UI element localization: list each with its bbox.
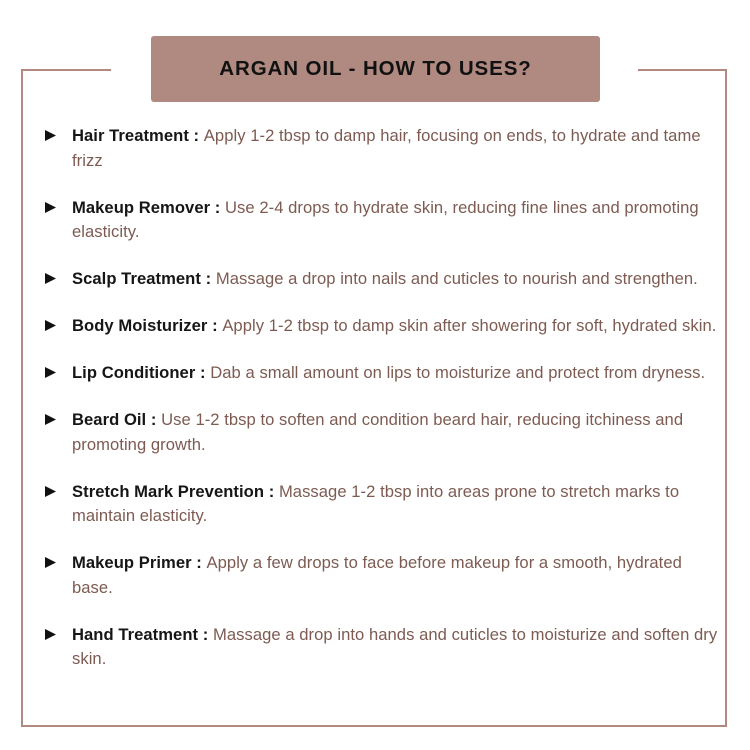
list-item-description: Massage a drop into nails and cuticles t… <box>216 269 698 288</box>
list-item-text: Makeup Remover : Use 2-4 drops to hydrat… <box>72 196 719 245</box>
triangle-right-icon <box>44 319 58 332</box>
triangle-right-icon <box>44 413 58 426</box>
list-item: Scalp Treatment : Massage a drop into na… <box>44 267 719 292</box>
list-item-text: Scalp Treatment : Massage a drop into na… <box>72 267 719 292</box>
triangle-right-icon <box>44 366 58 379</box>
list-item: Makeup Remover : Use 2-4 drops to hydrat… <box>44 196 719 245</box>
list-item-text: Stretch Mark Prevention : Massage 1-2 tb… <box>72 480 719 529</box>
list-item-description: Use 1-2 tbsp to soften and condition bea… <box>72 410 683 454</box>
usage-list: Hair Treatment : Apply 1-2 tbsp to damp … <box>44 124 719 694</box>
list-item: Lip Conditioner : Dab a small amount on … <box>44 361 719 386</box>
triangle-right-icon <box>44 272 58 285</box>
list-item-text: Makeup Primer : Apply a few drops to fac… <box>72 551 719 600</box>
frame-top-left-segment <box>21 69 111 71</box>
list-item-label: Hair Treatment : <box>72 126 204 145</box>
list-item-description: Apply 1-2 tbsp to damp skin after shower… <box>222 316 716 335</box>
list-item: Hair Treatment : Apply 1-2 tbsp to damp … <box>44 124 719 173</box>
list-item-text: Body Moisturizer : Apply 1-2 tbsp to dam… <box>72 314 719 339</box>
triangle-right-icon <box>44 485 58 498</box>
list-item-label: Stretch Mark Prevention : <box>72 482 279 501</box>
list-item-label: Makeup Remover : <box>72 198 225 217</box>
list-item-description: Dab a small amount on lips to moisturize… <box>210 363 705 382</box>
page-title: ARGAN OIL - HOW TO USES? <box>219 57 531 81</box>
list-item-label: Makeup Primer : <box>72 553 207 572</box>
list-item-text: Beard Oil : Use 1-2 tbsp to soften and c… <box>72 408 719 457</box>
list-item: Hand Treatment : Massage a drop into han… <box>44 623 719 672</box>
triangle-right-icon <box>44 556 58 569</box>
triangle-right-icon <box>44 628 58 641</box>
list-item-label: Beard Oil : <box>72 410 161 429</box>
frame-top-right-segment <box>638 69 727 71</box>
title-banner: ARGAN OIL - HOW TO USES? <box>151 36 600 102</box>
list-item-text: Hand Treatment : Massage a drop into han… <box>72 623 719 672</box>
list-item: Makeup Primer : Apply a few drops to fac… <box>44 551 719 600</box>
list-item: Body Moisturizer : Apply 1-2 tbsp to dam… <box>44 314 719 339</box>
list-item: Stretch Mark Prevention : Massage 1-2 tb… <box>44 480 719 529</box>
triangle-right-icon <box>44 129 58 142</box>
list-item-label: Body Moisturizer : <box>72 316 222 335</box>
list-item-label: Hand Treatment : <box>72 625 213 644</box>
list-item-text: Lip Conditioner : Dab a small amount on … <box>72 361 719 386</box>
list-item-label: Scalp Treatment : <box>72 269 216 288</box>
list-item-label: Lip Conditioner : <box>72 363 210 382</box>
list-item: Beard Oil : Use 1-2 tbsp to soften and c… <box>44 408 719 457</box>
list-item-text: Hair Treatment : Apply 1-2 tbsp to damp … <box>72 124 719 173</box>
triangle-right-icon <box>44 201 58 214</box>
